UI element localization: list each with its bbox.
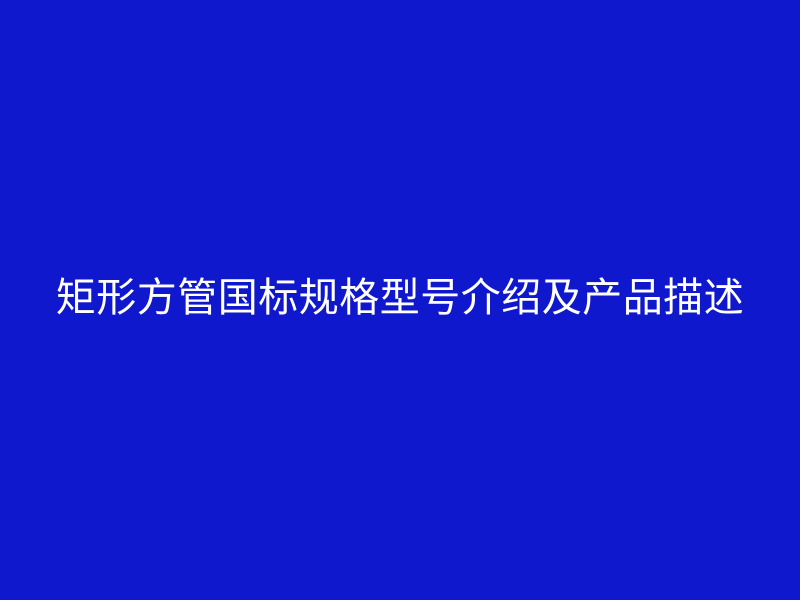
slide-canvas: 矩形方管国标规格型号介绍及产品描述 xyxy=(0,0,800,600)
title-band: 矩形方管国标规格型号介绍及产品描述 xyxy=(0,262,800,334)
slide-title: 矩形方管国标规格型号介绍及产品描述 xyxy=(56,276,745,320)
